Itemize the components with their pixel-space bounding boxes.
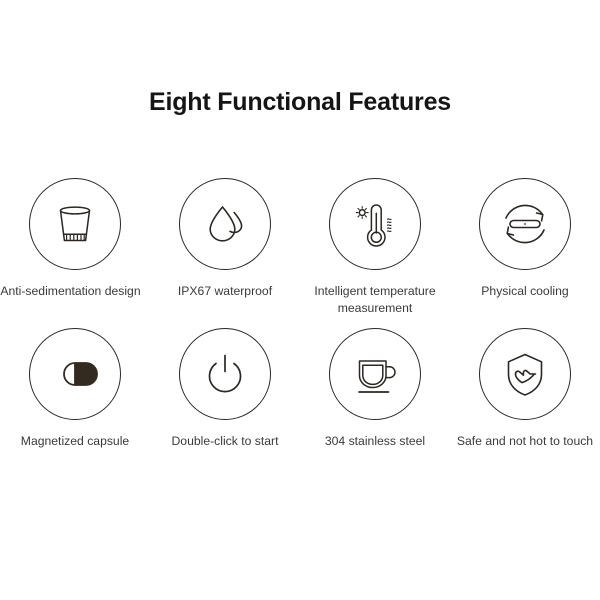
- feature-label: Double-click to start: [149, 433, 301, 450]
- feature-label: Intelligent temperature measurement: [295, 283, 455, 317]
- feature-item-safe-not-hot: Safe and not hot to touch: [450, 318, 600, 468]
- feature-item-anti-sedimentation: Anti-sedimentation design: [0, 168, 150, 318]
- feature-label: Safe and not hot to touch: [450, 433, 600, 450]
- feature-icon-circle: [29, 328, 121, 420]
- glass-sediment-icon: [46, 195, 104, 253]
- feature-item-temperature: Intelligent temperature measurement: [300, 168, 450, 318]
- thermometer-icon: [346, 195, 404, 253]
- feature-icon-circle: [329, 178, 421, 270]
- feature-icon-circle: [329, 328, 421, 420]
- features-grid: Anti-sedimentation design IPX67 waterpro…: [0, 168, 600, 468]
- power-button-icon: [196, 345, 254, 403]
- feature-label: IPX67 waterproof: [149, 283, 301, 300]
- feature-icon-circle: [29, 178, 121, 270]
- feature-item-double-click-start: Double-click to start: [150, 318, 300, 468]
- shield-hand-icon: [496, 345, 554, 403]
- capsule-icon: [46, 345, 104, 403]
- feature-label: Physical cooling: [445, 283, 600, 300]
- feature-label: Magnetized capsule: [0, 433, 151, 450]
- rotating-blade-icon: [495, 194, 555, 254]
- coffee-mug-icon: [346, 345, 404, 403]
- water-droplets-icon: [196, 195, 254, 253]
- feature-item-magnetized-capsule: Magnetized capsule: [0, 318, 150, 468]
- feature-icon-circle: [179, 328, 271, 420]
- feature-item-stainless-steel: 304 stainless steel: [300, 318, 450, 468]
- feature-label: Anti-sedimentation design: [0, 283, 156, 300]
- feature-item-physical-cooling: Physical cooling: [450, 168, 600, 318]
- feature-grid-page: Eight Functional Features Anti-sed: [0, 0, 600, 600]
- feature-icon-circle: [479, 328, 571, 420]
- page-title: Eight Functional Features: [0, 88, 600, 117]
- feature-label: 304 stainless steel: [299, 433, 451, 450]
- feature-item-waterproof: IPX67 waterproof: [150, 168, 300, 318]
- feature-icon-circle: [179, 178, 271, 270]
- feature-icon-circle: [479, 178, 571, 270]
